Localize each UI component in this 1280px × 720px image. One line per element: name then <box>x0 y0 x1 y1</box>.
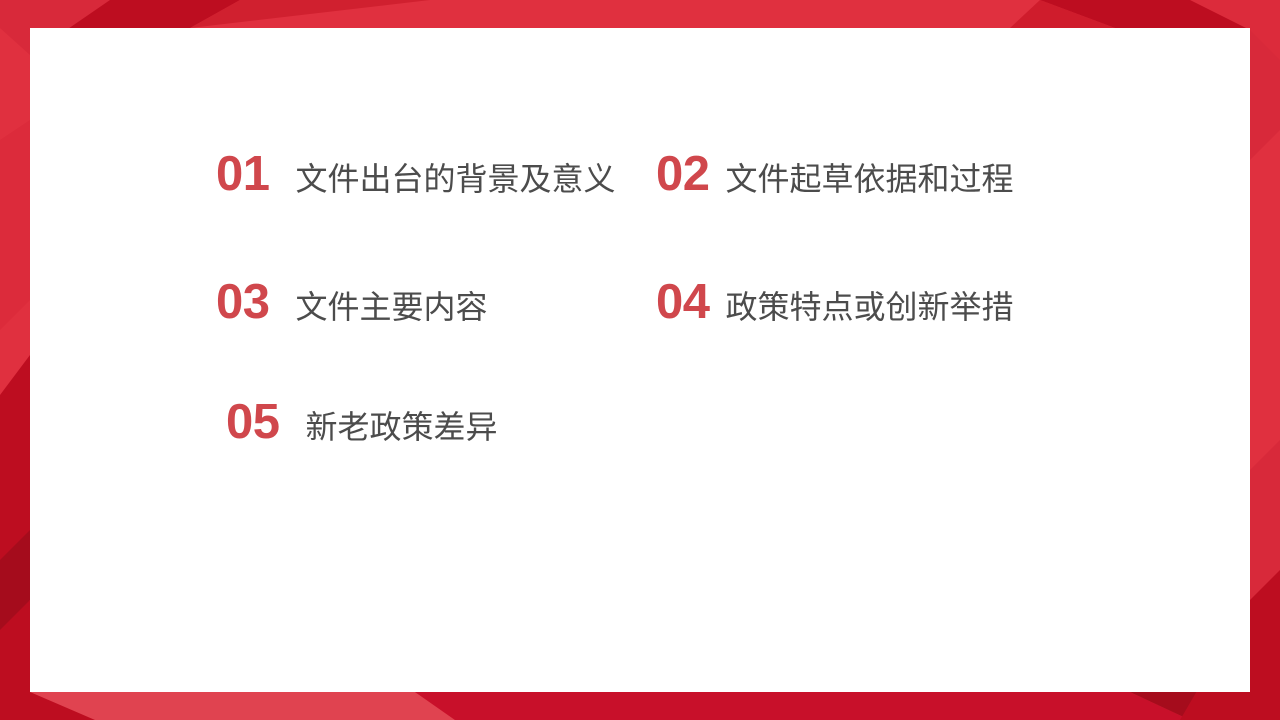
agenda-item-number: 04 <box>656 278 710 327</box>
agenda-item-label: 政策特点或创新举措 <box>726 291 1014 323</box>
agenda-item-label: 文件主要内容 <box>296 291 488 323</box>
agenda-item-number: 03 <box>216 278 270 327</box>
agenda-item-04[interactable]: 04 政策特点或创新举措 <box>656 278 1014 327</box>
agenda-item-number: 05 <box>226 398 280 447</box>
agenda-item-03[interactable]: 03 文件主要内容 <box>216 278 488 327</box>
agenda-item-05[interactable]: 05 新老政策差异 <box>226 398 498 447</box>
agenda-item-label: 文件起草依据和过程 <box>726 163 1014 195</box>
agenda-row-2: 03 文件主要内容 04 政策特点或创新举措 <box>30 278 1250 352</box>
presentation-slide: 01 文件出台的背景及意义 02 文件起草依据和过程 03 文件主要内容 04 … <box>0 0 1280 720</box>
agenda-item-number: 02 <box>656 150 710 199</box>
agenda-item-label: 文件出台的背景及意义 <box>296 163 616 195</box>
agenda-item-number: 01 <box>216 150 270 199</box>
agenda-list: 01 文件出台的背景及意义 02 文件起草依据和过程 03 文件主要内容 04 … <box>30 28 1250 692</box>
agenda-item-label: 新老政策差异 <box>306 411 498 443</box>
agenda-row-3: 05 新老政策差异 <box>30 398 1250 472</box>
agenda-item-02[interactable]: 02 文件起草依据和过程 <box>656 150 1014 199</box>
agenda-item-01[interactable]: 01 文件出台的背景及意义 <box>216 150 616 199</box>
agenda-row-1: 01 文件出台的背景及意义 02 文件起草依据和过程 <box>30 150 1250 224</box>
